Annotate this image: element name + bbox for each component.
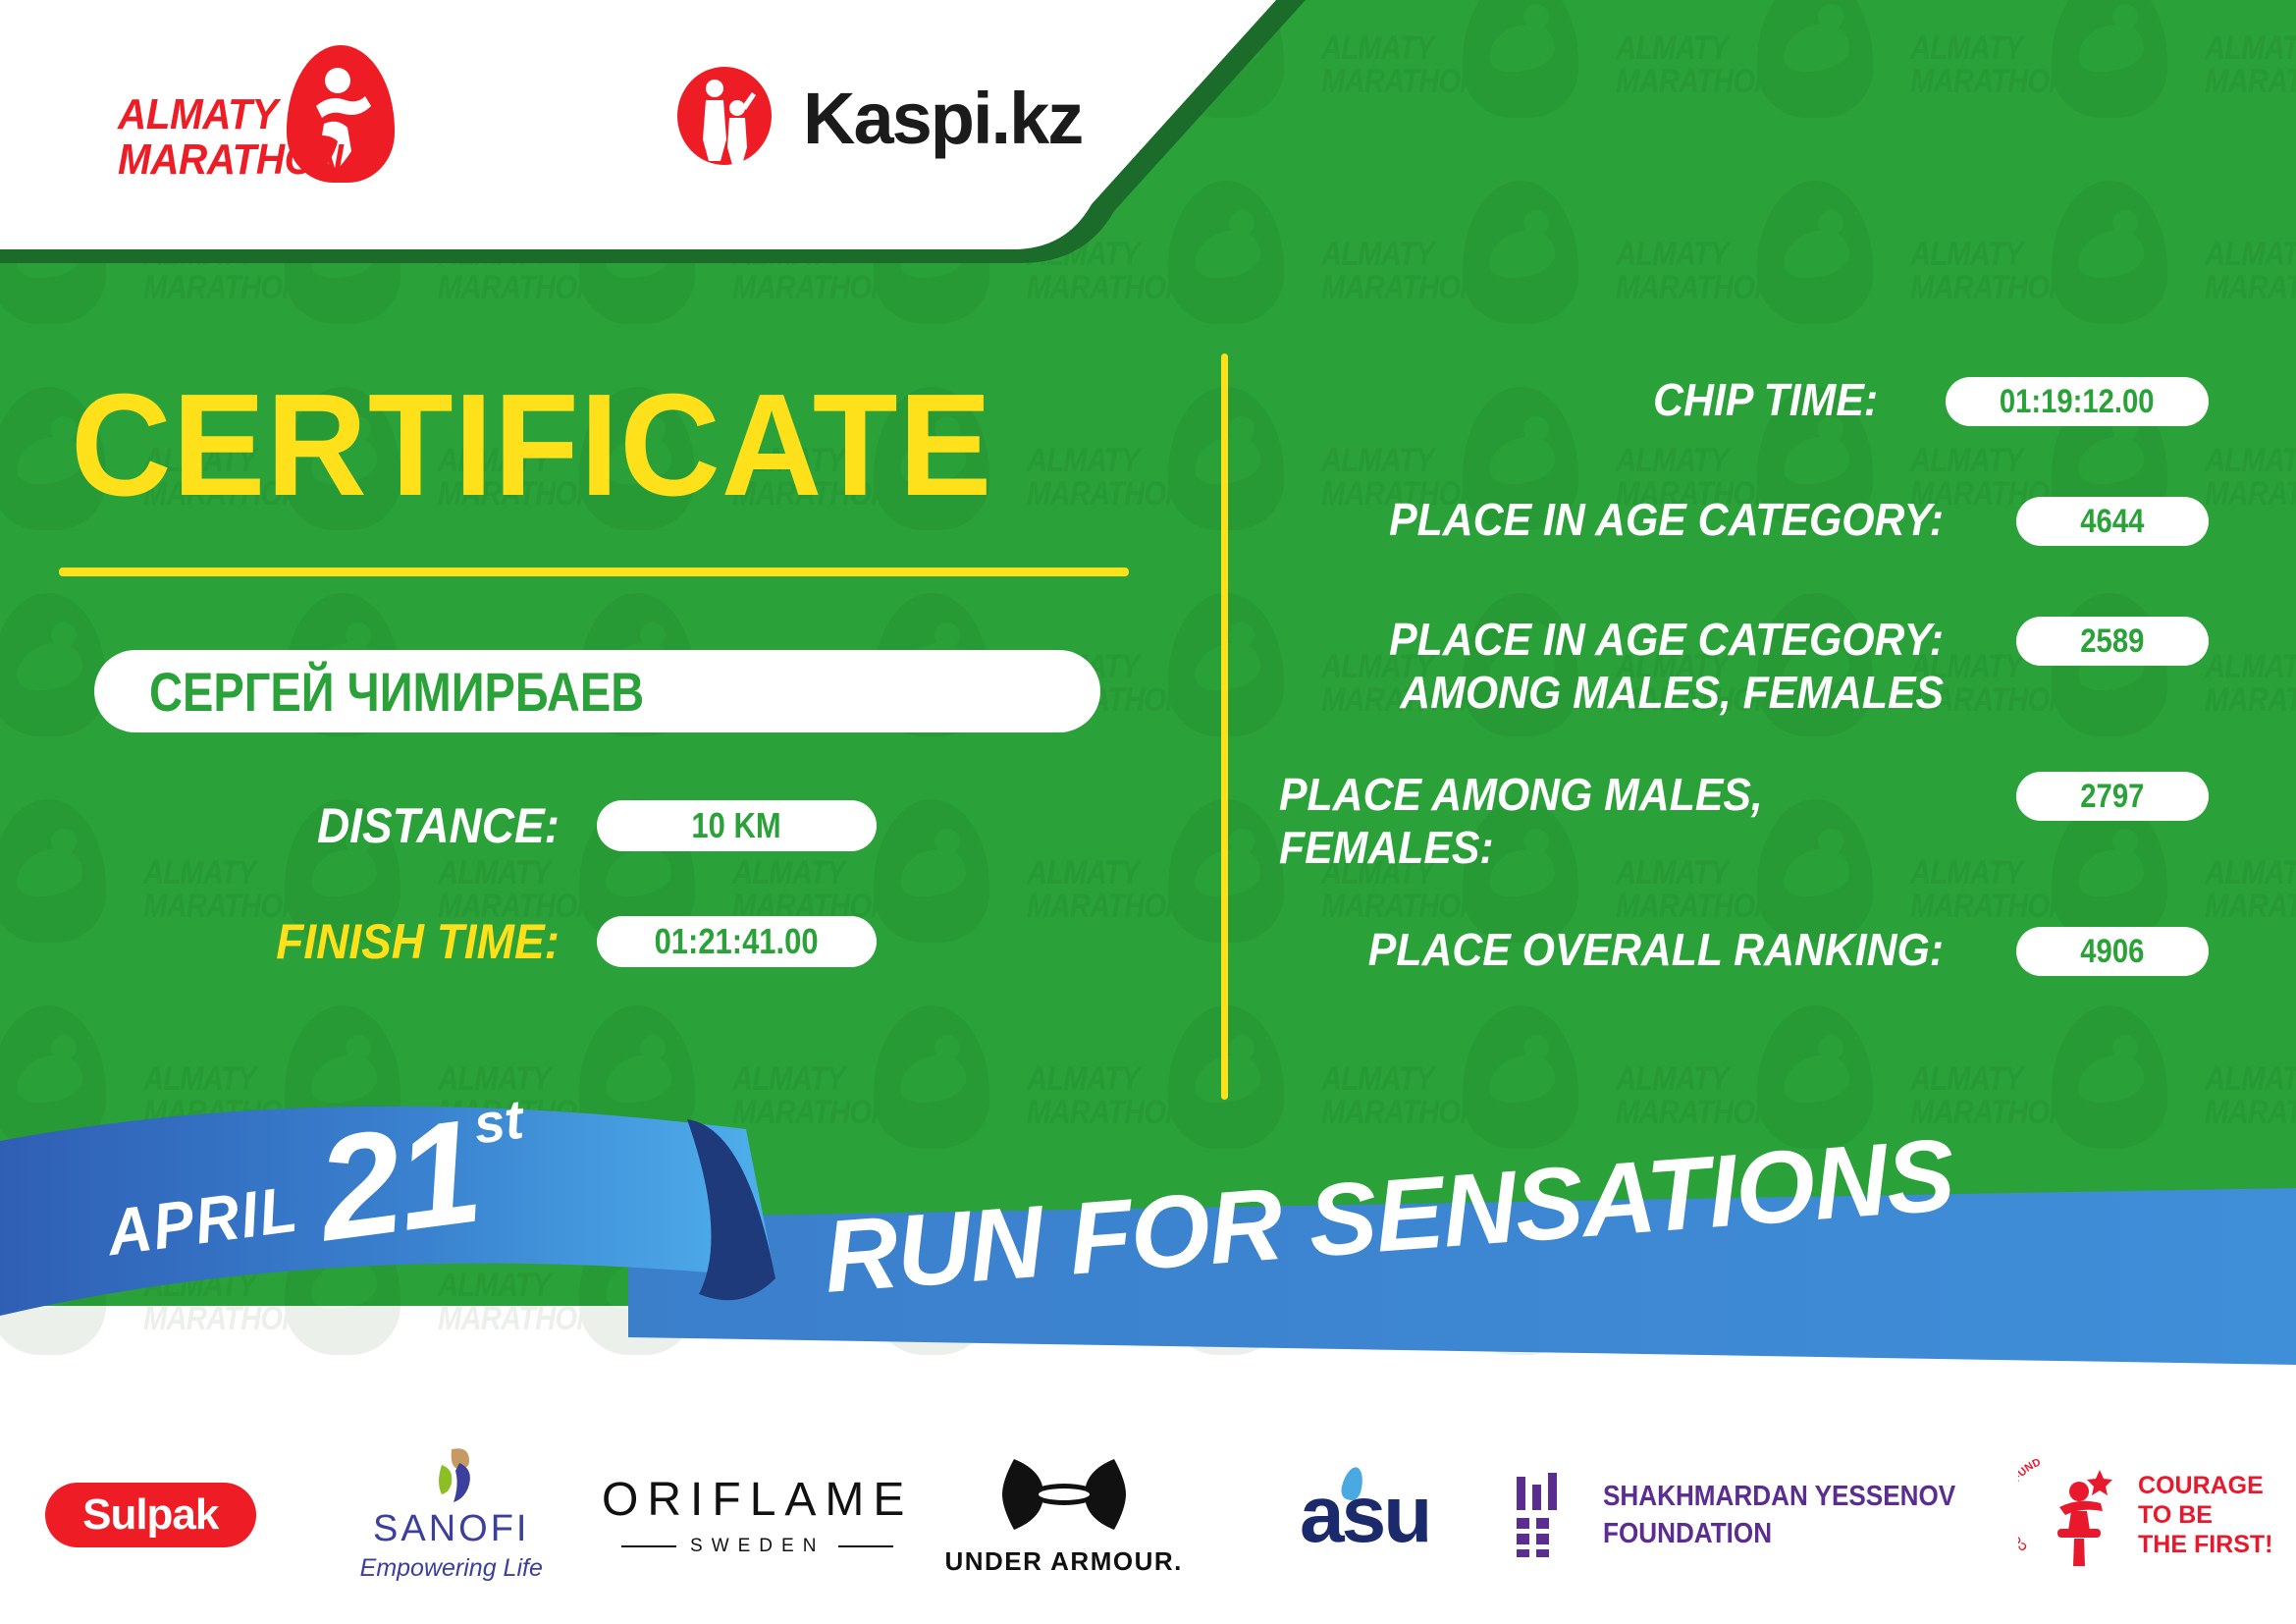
- result-value-pill: 4644: [2016, 497, 2209, 546]
- distance-value: 10 KM: [692, 805, 781, 846]
- sanofi-wordmark: SANOFI: [360, 1508, 543, 1550]
- sanofi-mark-icon: [412, 1447, 491, 1504]
- sanofi-logo: SANOFI Empowering Life: [360, 1447, 543, 1583]
- result-value-pill: 2589: [2016, 617, 2209, 666]
- courage-wordmark: COURAGE TO BE THE FIRST!: [2138, 1471, 2273, 1559]
- result-row: CHIP TIME:01:19:12.00: [1266, 373, 2209, 444]
- result-value: 2797: [2080, 778, 2144, 816]
- sponsor-under-armour: UNDER ARMOUR.: [913, 1422, 1214, 1608]
- almaty-line: ALMATY: [118, 92, 343, 137]
- sponsor-asu: asu: [1214, 1422, 1516, 1608]
- finish-time-label: FINISH TIME:: [258, 913, 560, 970]
- result-value: 2589: [2080, 623, 2144, 661]
- asu-wordmark: asu: [1300, 1470, 1429, 1559]
- results-column: CHIP TIME:01:19:12.00PLACE IN AGE CATEGO…: [1266, 373, 2209, 1043]
- certificate-page: ALMATYMARATHONALMATYMARATHONALMATYMARATH…: [0, 0, 2296, 1624]
- participant-name: СЕРГЕЙ ЧИМИРБАЕВ: [149, 660, 644, 724]
- finish-time-value: 01:21:41.00: [655, 921, 819, 962]
- oriflame-rule-right: [838, 1545, 893, 1547]
- asu-logo: asu: [1300, 1469, 1429, 1561]
- courage-arc-text: CORPORATE FUND: [2018, 1456, 2043, 1553]
- sanofi-tagline: Empowering Life: [360, 1554, 543, 1583]
- result-label: PLACE AMONG MALES,FEMALES:: [1266, 768, 1964, 874]
- svg-text:CORPORATE FUND: CORPORATE FUND: [2018, 1456, 2043, 1553]
- result-row: PLACE IN AGE CATEGORY:AMONG MALES, FEMAL…: [1266, 613, 2209, 719]
- result-value: 4906: [2080, 933, 2144, 971]
- distance-value-pill: 10 KM: [597, 800, 877, 851]
- sponsor-sanofi: SANOFI Empowering Life: [301, 1422, 603, 1608]
- under-armour-logo: UNDER ARMOUR.: [944, 1453, 1182, 1577]
- sulpak-logo: Sulpak: [45, 1483, 256, 1547]
- result-value-pill: 2797: [2016, 772, 2209, 821]
- yessenov-line2: FOUNDATION: [1603, 1515, 1955, 1552]
- sponsor-oriflame: ORIFLAME SWEDEN: [602, 1422, 913, 1608]
- result-label: PLACE OVERALL RANKING:: [1266, 923, 1964, 976]
- result-row: PLACE AMONG MALES,FEMALES:2797: [1266, 768, 2209, 874]
- yessenov-bars-icon: [1515, 1473, 1577, 1557]
- almaty-marathon-wordmark: ALMATY MARATHON: [118, 92, 343, 183]
- result-row: PLACE IN AGE CATEGORY:4644: [1266, 493, 2209, 564]
- yessenov-wordmark: SHAKHMARDAN YESSENOV FOUNDATION: [1603, 1478, 1955, 1552]
- kaspi-people-icon: [677, 67, 772, 165]
- sponsor-courage: CORPORATE FUND COURAGE TO BE THE FIRST!: [1996, 1422, 2296, 1608]
- result-row: PLACE OVERALL RANKING:4906: [1266, 923, 2209, 994]
- oriflame-sub-text: SWEDEN: [690, 1536, 825, 1557]
- event-month: APRIL: [103, 1170, 303, 1270]
- distance-label: DISTANCE:: [289, 797, 560, 854]
- under-armour-icon: [1000, 1453, 1128, 1536]
- sponsor-bar: Sulpak SANOFI Empowering Life ORIFLAME: [0, 1406, 2296, 1624]
- almaty-marathon-logo: ALMATY MARATHON: [118, 41, 442, 189]
- header-logos: ALMATY MARATHON Kaspi.kz: [0, 0, 1178, 275]
- participant-name-field: СЕРГЕЙ ЧИМИРБАЕВ: [94, 650, 1100, 732]
- sulpak-wordmark: Sulpak: [82, 1490, 218, 1540]
- event-day-suffix: st: [470, 1087, 527, 1157]
- kaspi-wordmark: Kaspi.kz: [803, 77, 1082, 160]
- sponsor-yessenov: SHAKHMARDAN YESSENOV FOUNDATION: [1515, 1422, 1995, 1608]
- yessenov-logo: SHAKHMARDAN YESSENOV FOUNDATION: [1515, 1473, 1995, 1557]
- marathon-line: MARATHON: [118, 137, 343, 183]
- result-value-pill: 4906: [2016, 927, 2209, 976]
- header-panel: ALMATY MARATHON Kaspi.kz: [0, 0, 1404, 295]
- page-title: CERTIFICATE: [71, 373, 992, 518]
- title-divider: [59, 568, 1129, 576]
- result-value: 01:19:12.00: [2000, 383, 2155, 421]
- oriflame-sub: SWEDEN: [602, 1536, 913, 1557]
- courage-logo: CORPORATE FUND COURAGE TO BE THE FIRST!: [2018, 1456, 2273, 1574]
- result-value: 4644: [2080, 503, 2144, 541]
- oriflame-logo: ORIFLAME SWEDEN: [602, 1473, 913, 1557]
- oriflame-rule-left: [621, 1545, 676, 1547]
- courage-line3: THE FIRST!: [2138, 1530, 2273, 1559]
- courage-line1: COURAGE: [2138, 1471, 2273, 1500]
- result-label: CHIP TIME:: [1266, 373, 1898, 426]
- result-value-pill: 01:19:12.00: [1946, 377, 2209, 426]
- courage-figure-icon: CORPORATE FUND: [2018, 1456, 2126, 1574]
- finish-time-value-pill: 01:21:41.00: [597, 916, 877, 967]
- yessenov-line1: SHAKHMARDAN YESSENOV: [1603, 1478, 1955, 1515]
- under-armour-wordmark: UNDER ARMOUR.: [944, 1546, 1182, 1577]
- column-divider: [1221, 353, 1228, 1100]
- result-label: PLACE IN AGE CATEGORY:: [1266, 493, 1964, 546]
- oriflame-wordmark: ORIFLAME: [602, 1473, 913, 1527]
- distance-row: DISTANCE: 10 KM: [265, 797, 877, 854]
- sponsor-sulpak: Sulpak: [0, 1422, 301, 1608]
- courage-line2: TO BE: [2138, 1500, 2273, 1530]
- finish-time-row: FINISH TIME: 01:21:41.00: [232, 913, 877, 970]
- event-day: 21: [311, 1107, 484, 1254]
- result-label: PLACE IN AGE CATEGORY:AMONG MALES, FEMAL…: [1266, 613, 1964, 719]
